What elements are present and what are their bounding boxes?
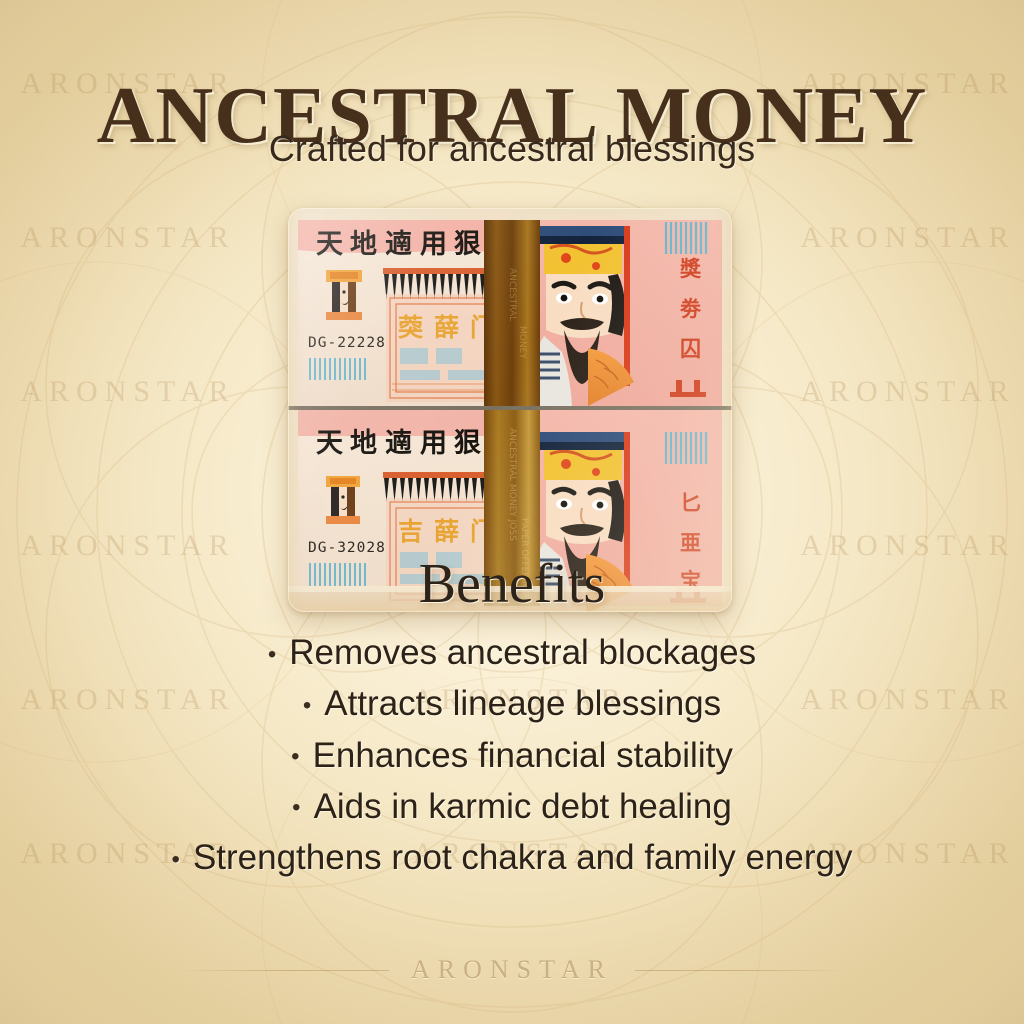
svg-text:地: 地 <box>350 229 377 260</box>
svg-text:薛: 薛 <box>434 517 459 546</box>
bullet-icon: • <box>268 641 276 669</box>
svg-text:囚: 囚 <box>680 337 701 361</box>
svg-text:獎: 獎 <box>679 257 702 281</box>
bullet-icon: • <box>172 846 180 874</box>
svg-text:天: 天 <box>316 229 343 260</box>
footer-brand-bar: ARONSTAR <box>0 950 1024 990</box>
benefit-item: •Enhances financial stability <box>0 735 1024 776</box>
svg-text:遖: 遖 <box>385 428 412 459</box>
benefits-heading: Benefits <box>0 556 1024 612</box>
bullet-icon: • <box>303 692 311 720</box>
benefit-item: •Removes ancestral blockages <box>0 632 1024 673</box>
benefits-list: •Removes ancestral blockages •Attracts l… <box>0 632 1024 878</box>
bullet-icon: • <box>292 794 300 822</box>
benefit-text: Strengthens root chakra and family energ… <box>193 838 853 877</box>
svg-text:用: 用 <box>420 229 447 260</box>
svg-text:用: 用 <box>420 428 447 459</box>
page-subtitle: Crafted for ancestral blessings <box>0 128 1024 169</box>
benefit-text: Removes ancestral blockages <box>289 633 756 672</box>
footer-divider-left <box>179 970 389 971</box>
benefit-text: Enhances financial stability <box>313 736 733 775</box>
svg-text:ANCESTRAL MONEY JOSS: ANCESTRAL MONEY JOSS <box>507 428 517 541</box>
footer-brand-name: ARONSTAR <box>411 955 613 985</box>
svg-text:亜: 亜 <box>680 531 701 555</box>
svg-text:天: 天 <box>316 428 343 459</box>
svg-text:DG-32028: DG-32028 <box>308 540 386 556</box>
bullet-icon: • <box>291 743 299 771</box>
benefit-text: Aids in karmic debt healing <box>314 787 732 826</box>
footer-divider-right <box>635 970 845 971</box>
benefit-item: •Aids in karmic debt healing <box>0 786 1024 827</box>
benefit-item: •Attracts lineage blessings <box>0 683 1024 724</box>
svg-text:DG-22228: DG-22228 <box>308 335 386 351</box>
svg-text:狠: 狠 <box>454 428 481 459</box>
svg-text:吉: 吉 <box>398 517 423 546</box>
svg-text:遖: 遖 <box>385 229 412 260</box>
benefit-text: Attracts lineage blessings <box>324 684 721 723</box>
svg-text:匕: 匕 <box>680 491 701 515</box>
svg-text:薛: 薛 <box>434 313 459 342</box>
benefit-item: •Strengthens root chakra and family ener… <box>0 837 1024 878</box>
svg-text:地: 地 <box>350 428 377 459</box>
svg-text:劵: 劵 <box>679 297 702 321</box>
svg-text:狠: 狠 <box>454 229 481 260</box>
svg-text:葖: 葖 <box>398 313 424 342</box>
svg-text:MONEY: MONEY <box>517 326 527 359</box>
svg-text:ANCESTRAL: ANCESTRAL <box>507 268 517 321</box>
product-image-joss-paper-stack[interactable]: 天地 遖用狠 <box>288 208 732 612</box>
poster-canvas: ARONSTAR ARONSTAR ARONSTAR ARONSTAR ARON… <box>0 0 1024 1024</box>
